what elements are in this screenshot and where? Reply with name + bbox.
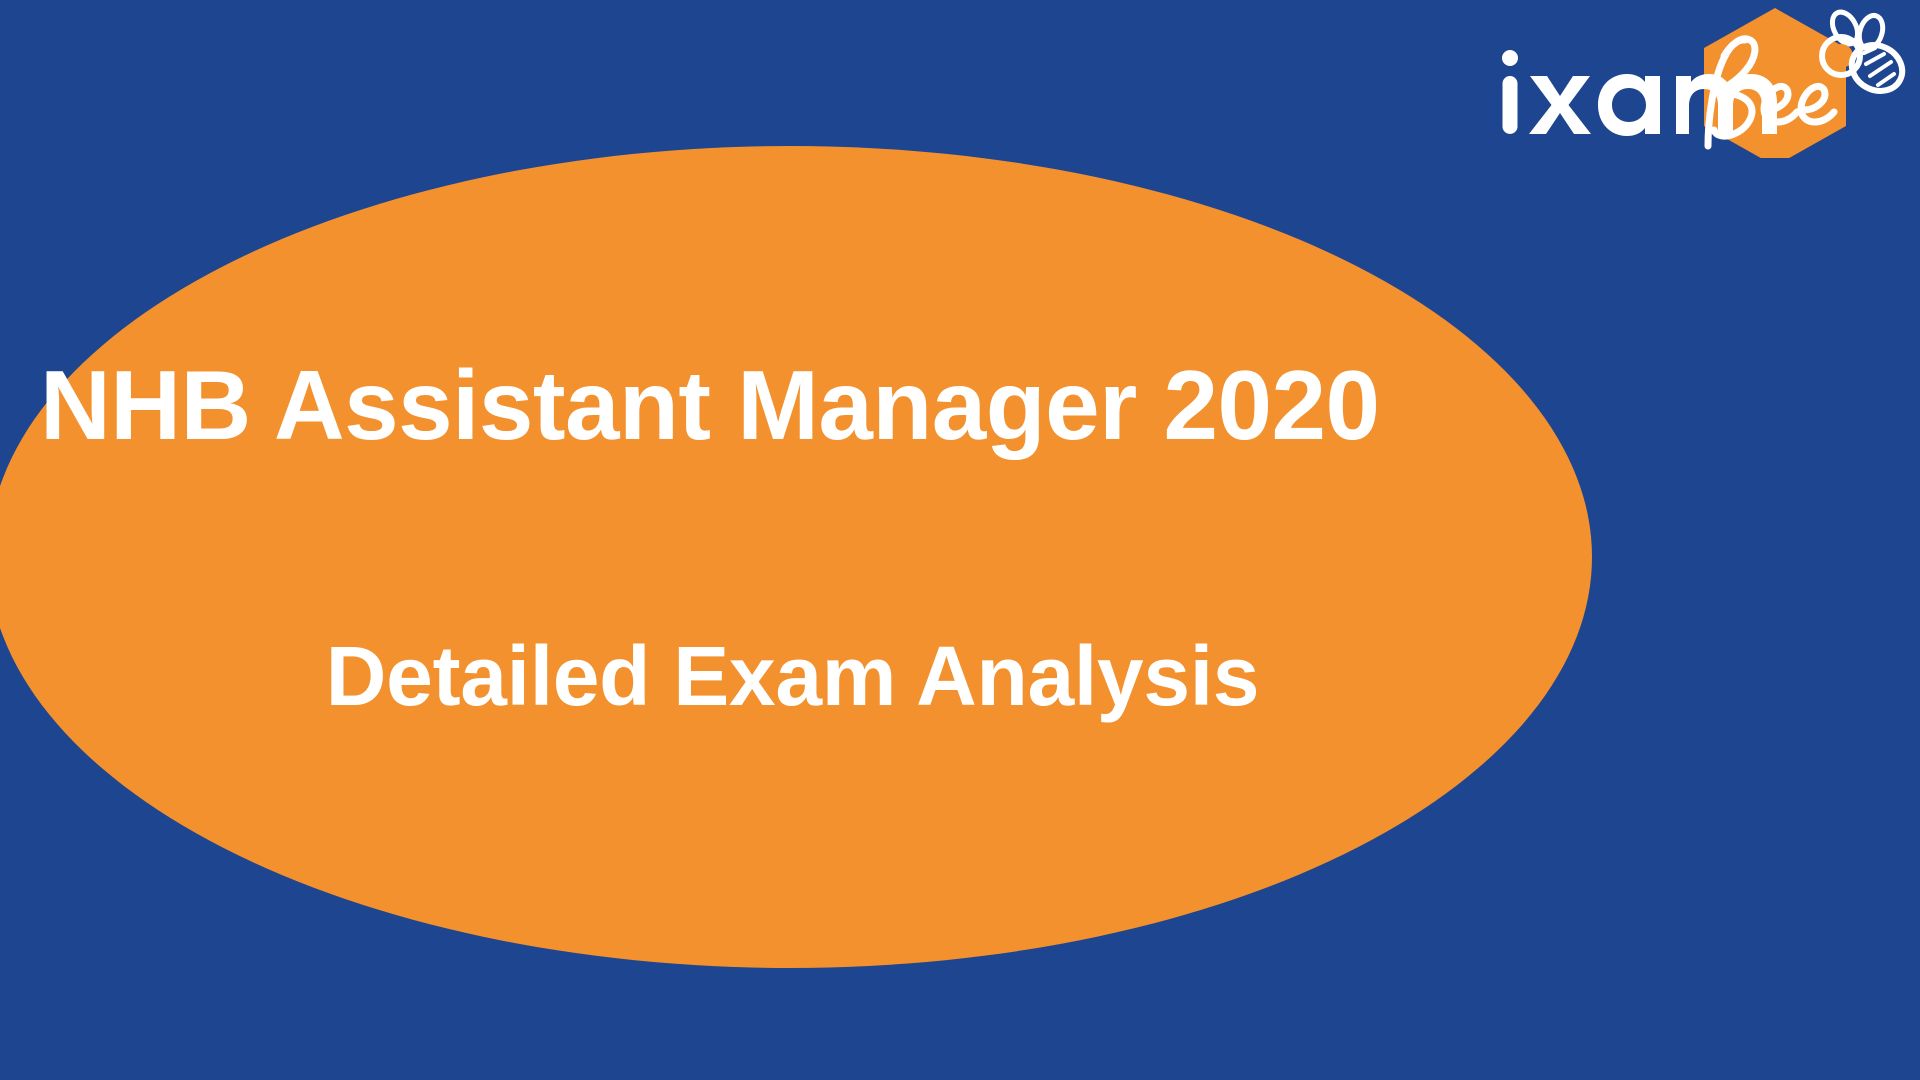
- exam-analysis-banner: NHB Assistant Manager 2020 Detailed Exam…: [0, 0, 1920, 1080]
- orange-ellipse-shape: [0, 146, 1592, 968]
- ixambee-logo[interactable]: [1486, 6, 1906, 158]
